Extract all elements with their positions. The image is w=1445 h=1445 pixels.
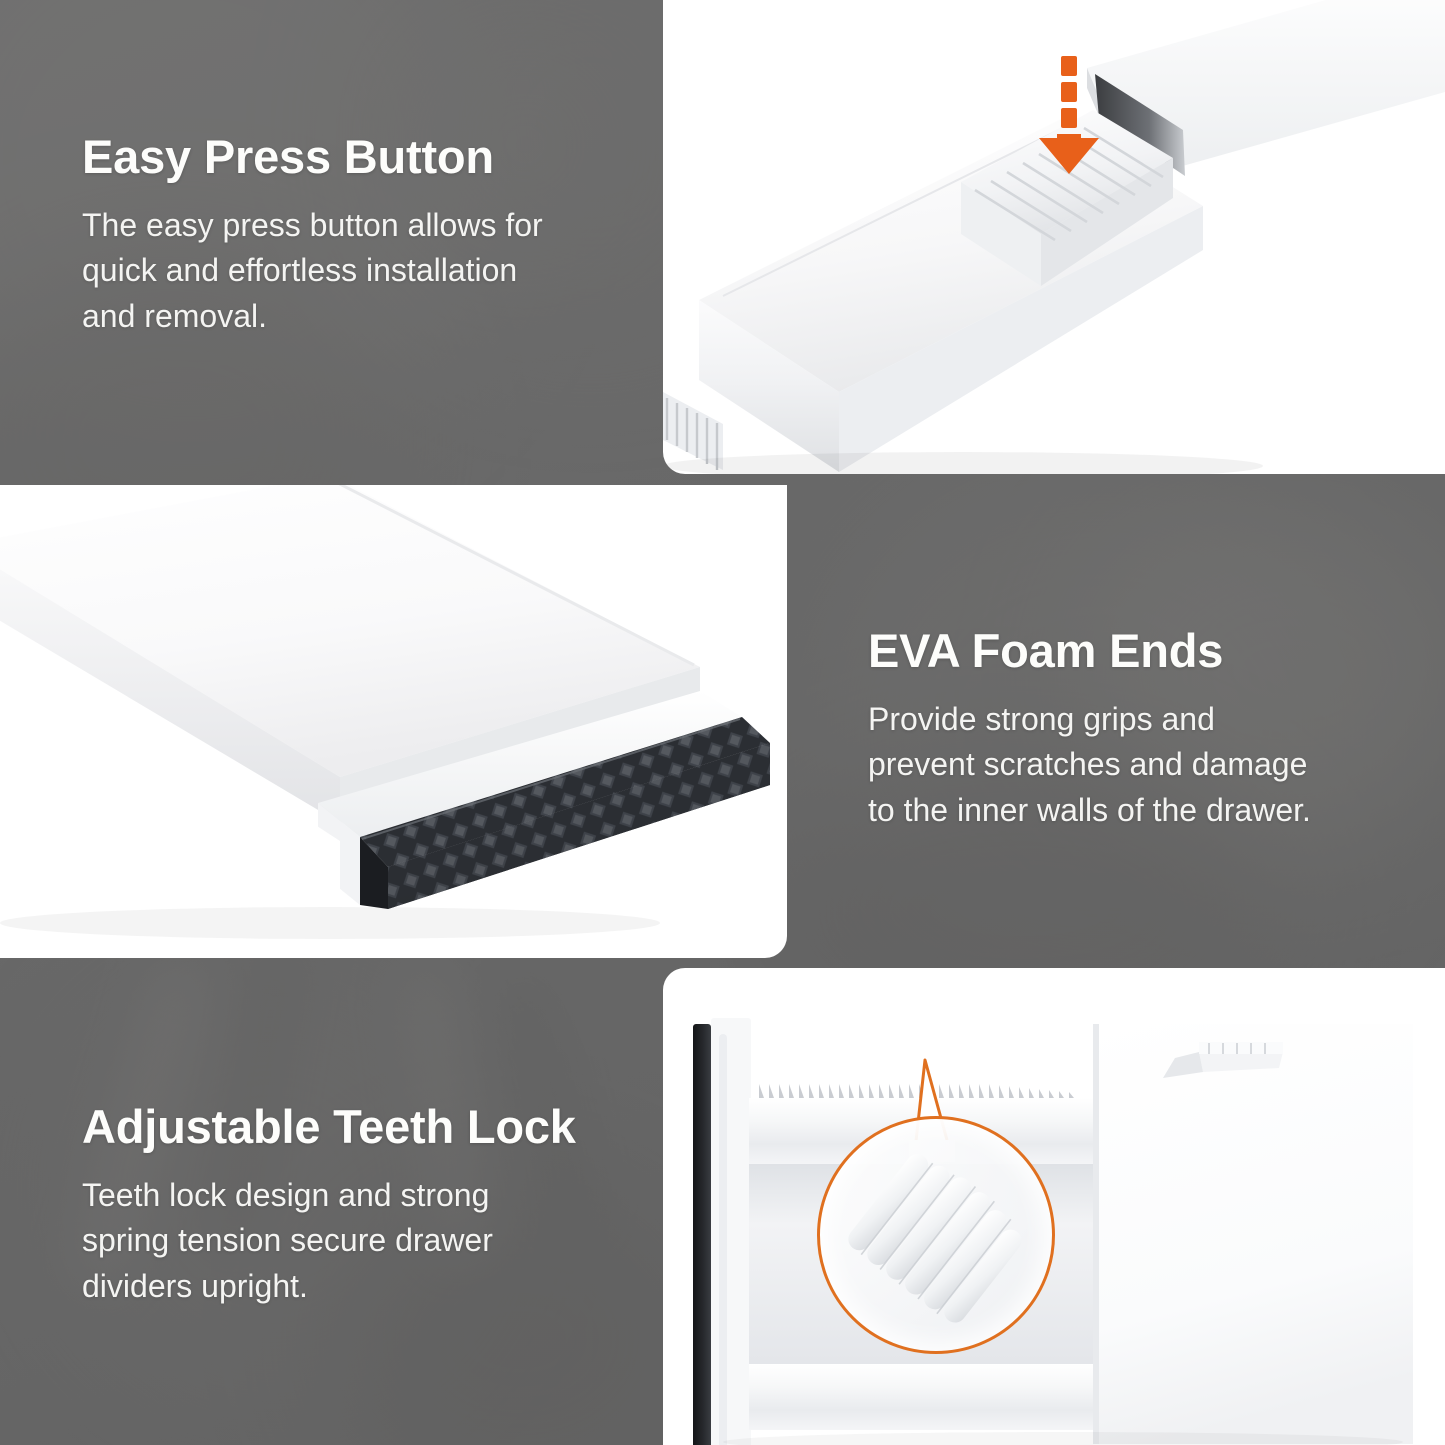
teeth-lock-product-art xyxy=(663,968,1445,1445)
arrow-dash-1 xyxy=(1061,56,1077,76)
feature-body-line: quick and effortless installation xyxy=(82,248,627,293)
left-end-block xyxy=(711,1018,751,1445)
rail-lower-wall xyxy=(749,1364,1099,1430)
press-button-product-art xyxy=(663,0,1445,474)
product-shadow xyxy=(0,907,660,939)
feature-body-line: Teeth lock design and strong xyxy=(82,1173,642,1218)
feature-body-press-button: The easy press button allows for quick a… xyxy=(82,203,627,339)
foam-divider-svg xyxy=(0,485,787,958)
teeth-lock-svg xyxy=(663,968,1445,1445)
feature-body-line: prevent scratches and damage xyxy=(868,742,1398,787)
foam-end-product-art xyxy=(0,485,787,958)
eva-foam-strip-left xyxy=(693,1024,711,1445)
magnifier-circle-icon xyxy=(817,1116,1055,1354)
photo-panel-foam-ends xyxy=(0,485,787,958)
feature-body-foam-ends: Provide strong grips and prevent scratch… xyxy=(868,697,1398,833)
magnified-teeth xyxy=(820,1119,1055,1354)
press-down-arrow-icon xyxy=(1037,56,1101,176)
left-end-groove xyxy=(719,1034,727,1445)
arrow-dash-2 xyxy=(1061,82,1077,102)
feature-text-teeth-lock: Adjustable Teeth Lock Teeth lock design … xyxy=(82,1102,642,1309)
feature-title-teeth-lock: Adjustable Teeth Lock xyxy=(82,1102,642,1153)
feature-title-foam-ends: EVA Foam Ends xyxy=(868,626,1398,677)
feature-text-foam-ends: EVA Foam Ends Provide strong grips and p… xyxy=(868,626,1398,833)
tooth-group xyxy=(844,1143,1032,1328)
feature-body-line: spring tension secure drawer xyxy=(82,1218,642,1263)
feature-text-press-button: Easy Press Button The easy press button … xyxy=(82,132,627,339)
right-slider-left-edge xyxy=(1093,1024,1099,1444)
feature-title-press-button: Easy Press Button xyxy=(82,132,627,183)
arrow-head xyxy=(1039,134,1099,174)
feature-body-line: dividers upright. xyxy=(82,1264,642,1309)
right-slider-panel xyxy=(1093,1024,1413,1444)
product-shadow xyxy=(663,452,1263,474)
photo-panel-teeth-lock xyxy=(663,968,1445,1445)
feature-body-line: and removal. xyxy=(82,294,627,339)
photo-panel-press-button xyxy=(663,0,1445,474)
arrow-dash-3 xyxy=(1061,108,1077,128)
feature-body-line: to the inner walls of the drawer. xyxy=(868,788,1398,833)
feature-body-line: Provide strong grips and xyxy=(868,697,1398,742)
feature-body-teeth-lock: Teeth lock design and strong spring tens… xyxy=(82,1173,642,1309)
feature-body-line: The easy press button allows for xyxy=(82,203,627,248)
